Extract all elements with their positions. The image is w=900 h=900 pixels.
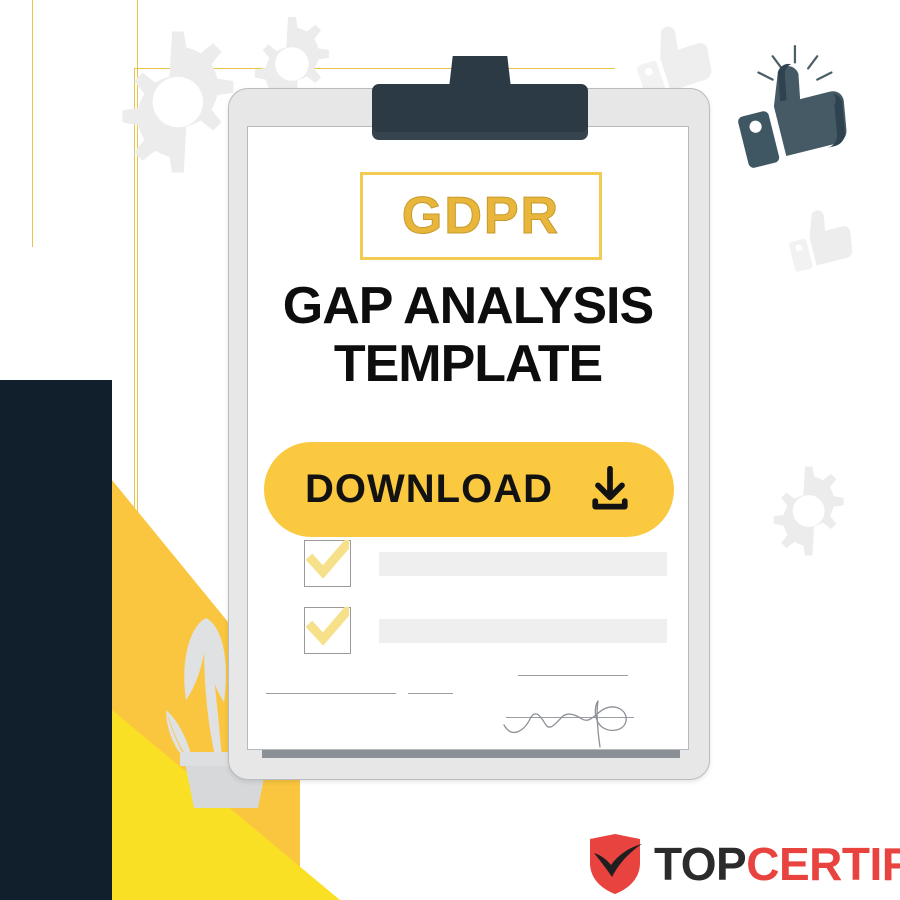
- rule-line-2: [408, 693, 453, 694]
- download-arrow-icon: [587, 466, 633, 514]
- document-paper: GDPR GAP ANALYSIS TEMPLATE DOWNLOAD: [247, 126, 689, 750]
- thumbs-up-icon-ghost-right: [780, 200, 862, 282]
- checkmark-icon: [304, 607, 349, 652]
- gdpr-badge: GDPR: [360, 172, 602, 260]
- corner-frame-inner-left: [32, 0, 138, 737]
- logo-word-certifier: CERTIFIER: [746, 841, 900, 887]
- signature-zone: [248, 657, 688, 747]
- placeholder-bar-1: [379, 552, 667, 576]
- gdpr-badge-label: GDPR: [402, 186, 560, 246]
- list-item[interactable]: [304, 607, 667, 654]
- brand-logo[interactable]: TOP CERTIFIER: [586, 833, 900, 895]
- clipboard-clip-icon: [372, 84, 588, 140]
- checkbox-2[interactable]: [304, 607, 351, 654]
- checkbox-1[interactable]: [304, 540, 351, 587]
- page-title-line1: GAP ANALYSIS: [248, 277, 688, 335]
- checkmark-icon: [304, 540, 349, 585]
- rule-line-3: [518, 675, 628, 676]
- rule-line-1: [266, 693, 396, 694]
- download-button-label: DOWNLOAD: [305, 467, 553, 512]
- page-title: GAP ANALYSIS TEMPLATE: [248, 277, 688, 393]
- gear-icon-right: [752, 458, 858, 564]
- page-title-line2: TEMPLATE: [248, 335, 688, 393]
- placeholder-bar-2: [379, 619, 667, 643]
- shield-check-icon: [586, 833, 644, 895]
- download-button[interactable]: DOWNLOAD: [264, 442, 674, 537]
- list-item[interactable]: [304, 540, 667, 587]
- handwritten-signature-icon: [498, 679, 648, 751]
- promo-canvas: GDPR GAP ANALYSIS TEMPLATE DOWNLOAD: [0, 0, 900, 900]
- logo-word-top: TOP: [654, 841, 746, 887]
- thumbs-up-icon-primary: [728, 38, 870, 180]
